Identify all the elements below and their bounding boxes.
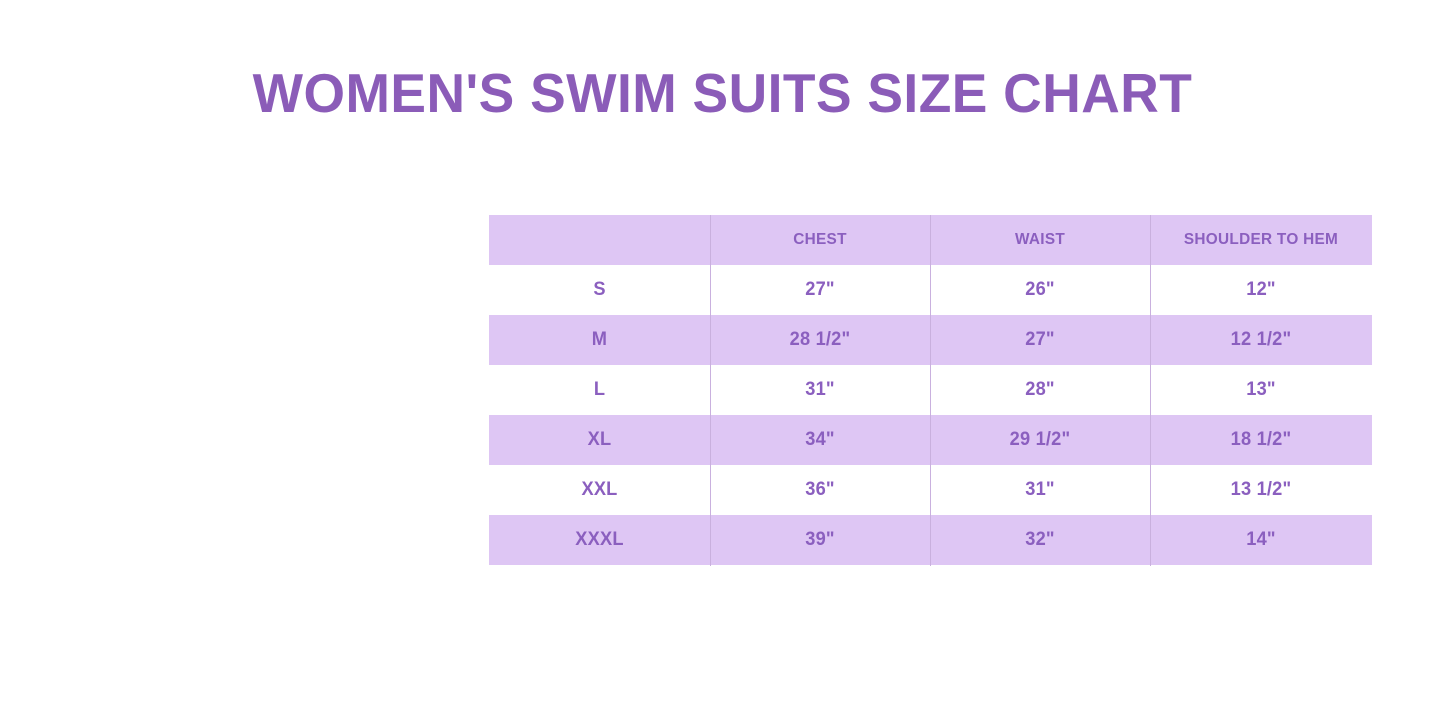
cell-chest: 31": [714, 365, 925, 415]
cell-hem: 13": [1154, 365, 1367, 415]
cell-waist: 26": [934, 265, 1145, 315]
column-header-size: [493, 215, 705, 265]
table-row: L 31" 28" 13": [489, 365, 1372, 415]
table-row: XXXL 39" 32" 14": [489, 515, 1372, 565]
column-header-shoulder-to-hem: SHOULDER TO HEM: [1154, 215, 1367, 265]
cell-hem: 14": [1154, 515, 1367, 565]
cell-hem: 18 1/2": [1154, 415, 1367, 465]
column-header-chest: CHEST: [714, 215, 925, 265]
cell-chest: 27": [714, 265, 925, 315]
cell-size: XXXL: [493, 515, 705, 565]
cell-chest: 28 1/2": [714, 315, 925, 365]
cell-waist: 31": [934, 465, 1145, 515]
cell-size: XL: [493, 415, 705, 465]
cell-size: M: [493, 315, 705, 365]
cell-size: L: [493, 365, 705, 415]
table-row: XL 34" 29 1/2" 18 1/2": [489, 415, 1372, 465]
table-row: M 28 1/2" 27" 12 1/2": [489, 315, 1372, 365]
table-header-row: CHEST WAIST SHOULDER TO HEM: [489, 215, 1372, 265]
cell-waist: 27": [934, 315, 1145, 365]
column-header-waist: WAIST: [934, 215, 1145, 265]
table-row: XXL 36" 31" 13 1/2": [489, 465, 1372, 515]
size-chart-table-container: CHEST WAIST SHOULDER TO HEM S 27" 26" 12…: [489, 215, 1372, 566]
cell-hem: 13 1/2": [1154, 465, 1367, 515]
table-body: S 27" 26" 12" M 28 1/2" 27" 12 1/2" L 31…: [489, 265, 1372, 565]
table-header: CHEST WAIST SHOULDER TO HEM: [489, 215, 1372, 265]
cell-hem: 12": [1154, 265, 1367, 315]
cell-size: S: [493, 265, 705, 315]
cell-waist: 32": [934, 515, 1145, 565]
page-title: WOMEN'S SWIM SUITS SIZE CHART: [22, 60, 1424, 126]
cell-chest: 36": [714, 465, 925, 515]
size-chart-table: CHEST WAIST SHOULDER TO HEM S 27" 26" 12…: [489, 215, 1372, 565]
size-chart-page: WOMEN'S SWIM SUITS SIZE CHART CHEST WAIS…: [0, 0, 1445, 723]
cell-waist: 28": [934, 365, 1145, 415]
table-row: S 27" 26" 12": [489, 265, 1372, 315]
cell-hem: 12 1/2": [1154, 315, 1367, 365]
cell-waist: 29 1/2": [934, 415, 1145, 465]
cell-chest: 39": [714, 515, 925, 565]
cell-chest: 34": [714, 415, 925, 465]
cell-size: XXL: [493, 465, 705, 515]
